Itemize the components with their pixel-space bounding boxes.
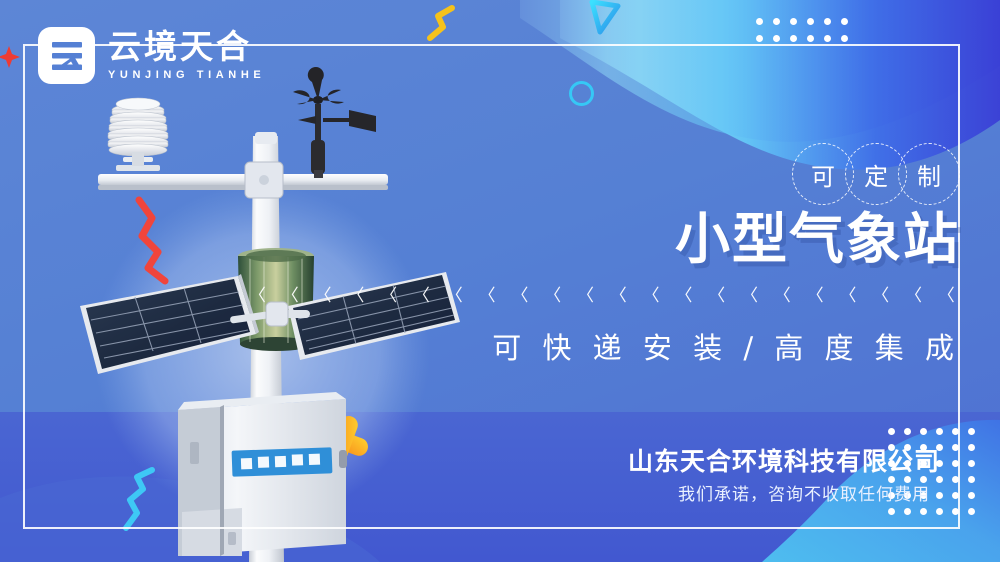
badge-zhi: 制	[898, 143, 960, 205]
cyan-ring-icon	[569, 81, 594, 106]
dot-grid-bottom	[888, 428, 984, 524]
promotional-banner: 云境天合 YUNJING TIANHE 可 定 制 小型气象站 〈 〈 〈 〈 …	[0, 0, 1000, 562]
yellow-zigzag-icon	[430, 8, 452, 38]
brand-logo-text: 云境天合 YUNJING TIANHE	[108, 30, 265, 81]
brand-name-cn: 云境天合	[108, 30, 265, 63]
control-cabinet	[178, 392, 347, 556]
solar-panel-left	[80, 274, 268, 374]
customizable-badges: 可 定 制	[792, 143, 960, 205]
page-title: 小型气象站	[675, 212, 960, 267]
wind-sensor	[293, 67, 376, 178]
yunjing-tianhe-logo-icon	[38, 27, 95, 84]
dot-grid-top	[756, 18, 858, 52]
brand-name-en: YUNJING TIANHE	[108, 70, 265, 81]
chevron-divider: 〈 〈 〈 〈 〈 〈 〈 〈 〈 〈 〈 〈 〈 〈 〈 〈 〈 〈 〈 〈 …	[249, 288, 960, 305]
subtitle: 可 快 递 安 装 / 高 度 集 成	[492, 331, 960, 366]
company-name: 山东天合环境科技有限公司	[628, 449, 940, 474]
brand-logo[interactable]: 云境天合 YUNJING TIANHE	[38, 27, 265, 84]
radiation-shield	[108, 98, 168, 171]
company-promise: 我们承诺，咨询不收取任何费用	[678, 487, 930, 504]
red-plus-icon	[0, 46, 20, 68]
